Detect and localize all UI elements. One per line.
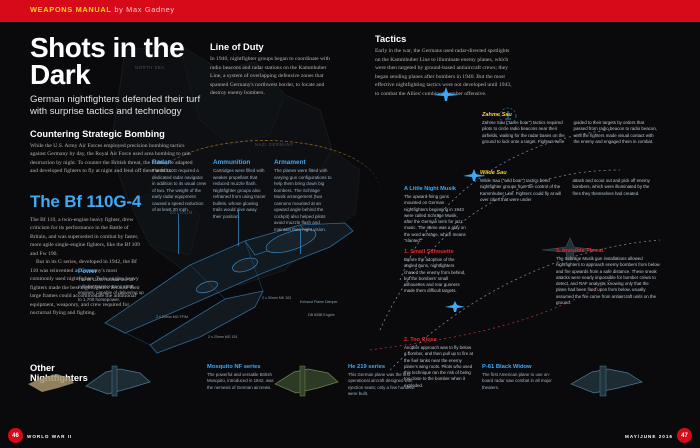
- line-of-duty-heading: Line of Duty: [210, 42, 330, 52]
- callout-radar: Radar The Bf 110G required a dedicated r…: [152, 159, 207, 214]
- nightfighter-p61-title: P-61 Black Widow: [482, 364, 554, 370]
- nightfighter-mosquito: Mosquito NF series The powerful and vers…: [207, 364, 279, 391]
- tactic-zahme-sau-heading: Zahme Sau: [482, 112, 658, 118]
- line-of-duty-block: Line of Duty In 1940, nightfighter group…: [210, 42, 330, 98]
- callout-ammunition: Ammunition Cartridges were filled with w…: [213, 159, 266, 220]
- banner-text: WEAPONS MANUAL by Max Gadney: [30, 5, 175, 14]
- banner-byline: by Max Gadney: [114, 5, 174, 14]
- leader-line-radar: [178, 214, 179, 254]
- plane-icon-tactics-1: [432, 86, 460, 102]
- other-nightfighters-section: Other Nightfighters Mosquito NF series T…: [0, 360, 700, 422]
- plane-silhouette-tan: [22, 362, 80, 402]
- callout-power-text: The Bf 110G housed two 12-cylinder Daiml…: [78, 277, 148, 303]
- tactic-invisible-threat-text: The Schräge Musik gun installations allo…: [556, 256, 660, 306]
- annotation-mgffm: 2 x 20mm MG FF/M: [156, 315, 188, 319]
- callout-armament: Armament The planes were fitted with var…: [274, 159, 332, 233]
- tactic-wilde-sau-col1: Wilde Sau ("wild boar") tactics freed ni…: [480, 178, 566, 203]
- callout-armament-heading: Armament: [274, 159, 332, 166]
- line-of-duty-paragraph: In 1940, nightfighter groups began to co…: [210, 55, 330, 98]
- tactic-zahme-sau-text-2: guided to their targets by orders that p…: [574, 120, 659, 145]
- page-number-left: 46: [8, 428, 23, 443]
- nightfighter-p61: P-61 Black Widow The first American plan…: [482, 364, 554, 391]
- callout-ammunition-text: Cartridges were filled with weaker prope…: [213, 168, 266, 220]
- callout-radar-text: The Bf 110G required a dedicated radar n…: [152, 168, 207, 214]
- annotation-exhaust-flame-damper: Exhaust Flame Damper: [300, 300, 338, 304]
- mosquito-silhouette: [82, 360, 154, 404]
- annotation-mk103: 2 x 30mm MK 103: [262, 296, 291, 300]
- page-title: Shots in the Dark: [30, 34, 200, 89]
- geo-label-nazi-germany: NAZI GERMANY: [255, 142, 294, 147]
- weapons-manual-banner: WEAPONS MANUAL by Max Gadney: [0, 0, 700, 22]
- tactic-wilde-sau-text-1: Wilde Sau ("wild boar") tactics freed ni…: [480, 178, 566, 203]
- tactic-zahme-sau: Zahme Sau Zahme Sau ("tame boar") tactic…: [482, 112, 658, 145]
- callout-armament-text: The planes were fitted with varying gun …: [274, 168, 332, 233]
- tactic-invisible-threat: 3. Invisible Threat The Schräge Musik gu…: [556, 248, 660, 306]
- countering-heading: Countering Strategic Bombing: [30, 129, 200, 139]
- banner-kicker: WEAPONS MANUAL: [30, 5, 112, 14]
- footer-label-right: MAY/JUNE 2016: [625, 434, 673, 439]
- plane-icon-tactics-3: [444, 300, 466, 313]
- tactic-night-musik: A Little Night Musik The upward-firing g…: [404, 186, 466, 244]
- tactic-small-silhouette-text: Before the adoption of the angled guns, …: [404, 257, 468, 295]
- callout-radar-heading: Radar: [152, 159, 207, 166]
- leader-line-armament: [300, 230, 301, 254]
- tactic-night-musik-text: The upward-firing guns mounted on German…: [404, 194, 466, 244]
- tactics-heading: Tactics: [375, 34, 515, 44]
- infographic-page: WEAPONS MANUAL by Max Gadney NORTH SEA N…: [0, 0, 700, 448]
- tactic-small-silhouette-heading: 1. Small Silhouette: [404, 249, 468, 255]
- page-deck: German nightfighters defended their turf…: [30, 94, 215, 118]
- footer-label-left: WORLD WAR II: [27, 434, 72, 439]
- callout-ammunition-heading: Ammunition: [213, 159, 266, 166]
- tactic-too-close-heading: 2. Too Close: [404, 337, 474, 343]
- nightfighter-he219-text: This German plane was the first operatio…: [348, 372, 420, 398]
- nightfighter-mosquito-title: Mosquito NF series: [207, 364, 279, 370]
- tactic-wilde-sau-heading: Wilde Sau: [480, 170, 658, 176]
- callout-power-heading: Power: [78, 268, 148, 275]
- nightfighter-he219: He 219 series This German plane was the …: [348, 364, 420, 398]
- tactic-wilde-sau: Wilde Sau Wilde Sau ("wild boar") tactic…: [480, 170, 658, 203]
- page-footer: 46 WORLD WAR II MAY/JUNE 2016 47: [0, 422, 700, 448]
- tactic-wilde-sau-col2: attack and scout out and pick off enemy …: [573, 178, 659, 203]
- nightfighter-p61-text: The first American plane to use on-board…: [482, 372, 554, 391]
- annotation-db605b-engine: DB 605B Engine: [308, 313, 335, 317]
- tactic-wilde-sau-text-2: attack and scout out and pick off enemy …: [573, 178, 659, 197]
- callout-power: Power The Bf 110G housed two 12-cylinder…: [78, 268, 148, 303]
- tactic-zahme-sau-col1: Zahme Sau ("tame boar") tactics required…: [482, 120, 567, 145]
- leader-line-ammunition: [238, 212, 239, 246]
- tactic-zahme-sau-text-1: Zahme Sau ("tame boar") tactics required…: [482, 120, 567, 145]
- tactic-invisible-threat-heading: 3. Invisible Threat: [556, 248, 660, 254]
- annotation-mg151: 2 x 20mm MG 151: [208, 335, 238, 339]
- tactic-small-silhouette: 1. Small Silhouette Before the adoption …: [404, 249, 468, 295]
- nightfighter-mosquito-text: The powerful and versatile British Mosqu…: [207, 372, 279, 391]
- he219-silhouette: [272, 360, 342, 404]
- tactic-night-musik-heading: A Little Night Musik: [404, 186, 466, 192]
- tactic-zahme-sau-col2: guided to their targets by orders that p…: [574, 120, 659, 145]
- page-number-right: 47: [677, 428, 692, 443]
- nightfighter-he219-title: He 219 series: [348, 364, 420, 370]
- p61-silhouette: [568, 360, 646, 404]
